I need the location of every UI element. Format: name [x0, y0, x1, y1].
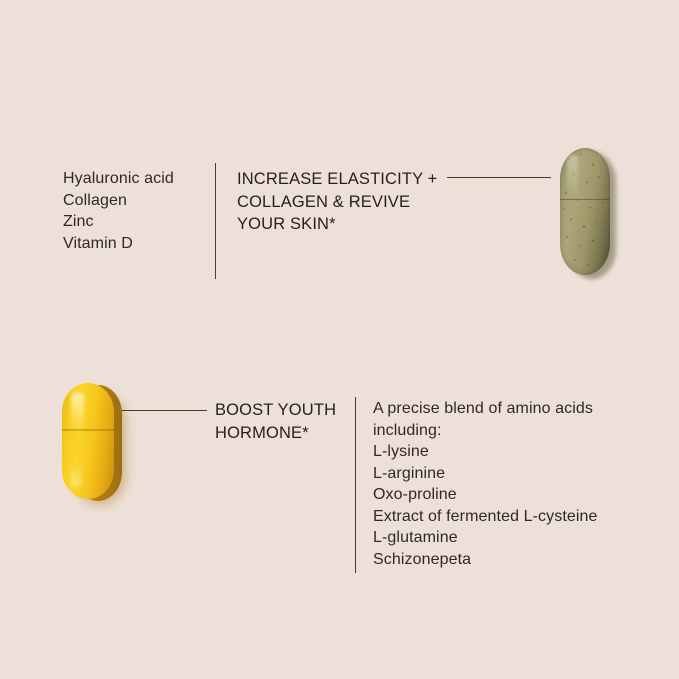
leader-line-yellow-capsule	[122, 410, 207, 411]
list-item: Schizonepeta	[373, 549, 598, 571]
ingredient-list-youth-hormone: A precise blend of amino acids including…	[373, 398, 598, 570]
section-divider-bottom	[355, 397, 356, 573]
list-item: L-glutamine	[373, 527, 598, 549]
ingredient-list-elasticity: Hyaluronic acid Collagen Zinc Vitamin D	[63, 168, 174, 254]
list-item: including:	[373, 420, 598, 442]
benefit-heading-youth-hormone: BOOST YOUTH HORMONE*	[215, 399, 336, 444]
heading-line: YOUR SKIN*	[237, 213, 437, 236]
yellow-capsule-joint	[62, 429, 114, 431]
list-item: L-lysine	[373, 441, 598, 463]
list-item: Oxo-proline	[373, 484, 598, 506]
list-item: Extract of fermented L-cysteine	[373, 506, 598, 528]
list-item: Collagen	[63, 190, 174, 212]
infographic-canvas: Hyaluronic acid Collagen Zinc Vitamin D …	[0, 0, 679, 679]
list-item: A precise blend of amino acids	[373, 398, 598, 420]
leader-line-green-capsule	[447, 177, 551, 178]
green-capsule	[560, 148, 614, 279]
yellow-capsule-body	[62, 383, 114, 499]
yellow-capsule-lower-highlight	[70, 461, 82, 487]
heading-line: BOOST YOUTH	[215, 399, 336, 422]
list-item: L-arginine	[373, 463, 598, 485]
benefit-heading-elasticity: INCREASE ELASTICITY + COLLAGEN & REVIVE …	[237, 168, 437, 236]
list-item: Zinc	[63, 211, 174, 233]
section-divider-top	[215, 163, 216, 279]
yellow-capsule	[62, 383, 124, 503]
green-capsule-highlight	[567, 155, 578, 201]
heading-line: COLLAGEN & REVIVE	[237, 191, 437, 214]
list-item: Hyaluronic acid	[63, 168, 174, 190]
list-item: Vitamin D	[63, 233, 174, 255]
heading-line: INCREASE ELASTICITY +	[237, 168, 437, 191]
heading-line: HORMONE*	[215, 422, 336, 445]
green-capsule-body	[560, 148, 610, 275]
yellow-capsule-highlight	[71, 392, 84, 432]
